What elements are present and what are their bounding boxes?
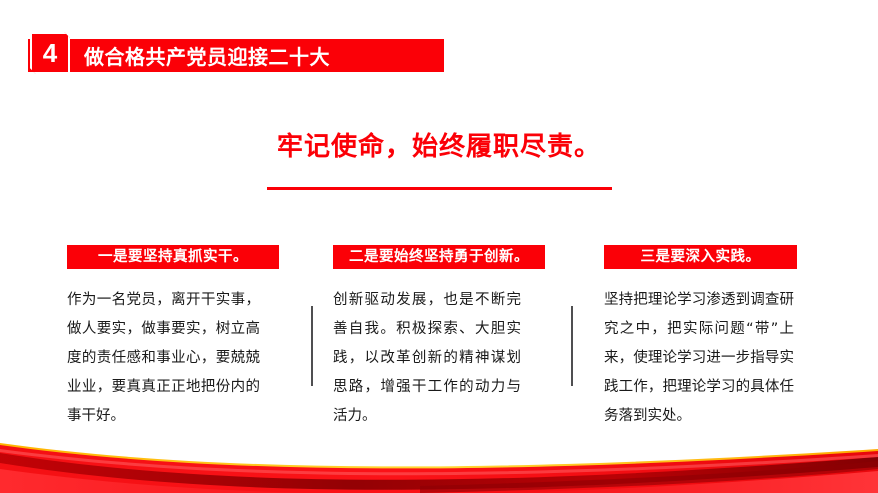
- ribbon-dark-right: [420, 461, 878, 493]
- section-title-banner: 做合格共产党员迎接二十大: [28, 39, 444, 72]
- column-2-header: 二是要始终坚持勇于创新。: [333, 245, 545, 269]
- slide-headline: 牢记使命，始终履职尽责。: [0, 126, 878, 163]
- column-divider-2: [571, 306, 573, 386]
- ribbon-dark-crease: [0, 453, 878, 490]
- section-title-text: 做合格共产党员迎接二十大: [84, 41, 330, 70]
- column-1-body: 作为一名党员，离开干实事，做人要实，做事要实，树立高度的责任感和事业心，要兢兢业…: [67, 286, 260, 431]
- slide-canvas: 做合格共产党员迎接二十大 4 牢记使命，始终履职尽责。 一是要坚持真抓实干。 作…: [0, 0, 878, 493]
- ribbon-red-lower: [0, 469, 878, 493]
- content-columns: 一是要坚持真抓实干。 作为一名党员，离开干实事，做人要实，做事要实，树立高度的责…: [0, 245, 878, 455]
- column-1-header: 一是要坚持真抓实干。: [67, 245, 279, 269]
- content-column-1: 一是要坚持真抓实干。 作为一名党员，离开干实事，做人要实，做事要实，树立高度的责…: [67, 245, 279, 431]
- content-column-2: 二是要始终坚持勇于创新。 创新驱动发展，也是不断完善自我。积极探索、大胆实践，以…: [333, 245, 545, 431]
- column-divider-1: [311, 306, 313, 386]
- column-3-body: 坚持把理论学习渗透到调查研究之中，把实际问题“带”上来，使理论学习进一步指导实践…: [604, 286, 794, 431]
- section-number-badge: 4: [30, 32, 70, 74]
- content-column-3: 三是要深入实践。 坚持把理论学习渗透到调查研究之中，把实际问题“带”上来，使理论…: [604, 245, 816, 431]
- column-3-header: 三是要深入实践。: [604, 245, 797, 269]
- section-number-text: 4: [43, 40, 57, 66]
- headline-underline: [267, 187, 612, 190]
- column-2-body: 创新驱动发展，也是不断完善自我。积极探索、大胆实践，以改革创新的精神谋划思路，增…: [333, 286, 521, 431]
